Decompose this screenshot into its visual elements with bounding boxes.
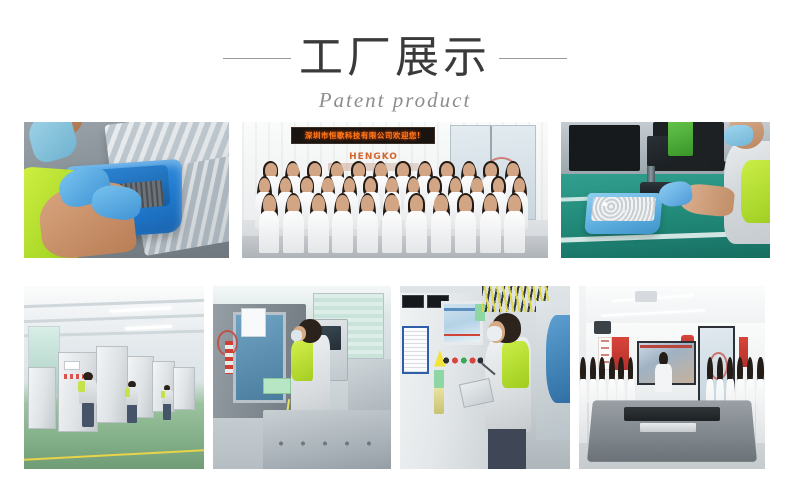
group-member [478,195,502,252]
photo-cnc-machine[interactable] [213,286,391,469]
section-header: 工厂展示 Patent product [0,0,790,122]
machine-document [241,308,266,337]
equipment-status-label [434,370,444,388]
page-subtitle: Patent product [0,88,790,113]
line-operator [161,385,174,420]
group-member [257,195,281,252]
face-mask-icon [291,330,302,341]
projector-icon [635,291,657,302]
group-member [503,195,527,252]
presenter [655,352,672,392]
safety-label [263,378,291,394]
inspector-sleeve [741,160,770,223]
group-member [380,195,404,252]
monitor-icon [569,125,640,171]
title-rule-right [499,58,567,59]
photo-inspection-bench[interactable] [561,122,770,258]
group-row-front [257,195,526,252]
face-mask-icon [724,125,753,147]
photo-company-group[interactable]: 深圳市恒歌科技有限公司欢迎您! HENGKO [242,122,548,258]
group-member [306,195,330,252]
gallery-row-top: 深圳市恒歌科技有限公司欢迎您! HENGKO [0,122,790,258]
technician-sleeve [502,341,529,389]
workpiece-holes [270,425,380,462]
photo-packing-station[interactable] [24,122,229,258]
table-center-console [624,407,721,422]
attendee [579,352,587,444]
page-title: 工厂展示 [293,30,497,86]
factory-gallery: 深圳市恒歌科技有限公司欢迎您! HENGKO [0,122,790,469]
group-member [454,195,478,252]
hmi-screen-line [444,334,480,336]
group-member [405,195,429,252]
title-rule-left [223,58,291,59]
machine-label-panel [64,361,80,370]
photo-process-recording[interactable] [400,286,570,469]
group-member [282,195,306,252]
indicator-lamps-icon [443,356,484,365]
technician-legs [488,429,525,469]
blue-machine-part [546,315,570,403]
presentation-title-bar [640,345,692,348]
line-operator [78,372,98,427]
keyboard-icon [640,423,696,432]
title-row: 工厂展示 [0,30,790,86]
digital-meter-icon [402,295,424,308]
machine-unit [173,367,195,411]
vision-camera-icon [668,122,693,156]
wall-logo: HENGKO [340,151,407,163]
group-member [356,195,380,252]
cnc-operator-sleeve [291,341,312,381]
machine-buttons-icon [225,341,232,374]
face-mask-icon [487,326,502,341]
white-parts-in-tray [591,197,656,221]
machine-unit [96,346,128,423]
emergency-stop-icon [434,388,444,414]
gallery-row-bottom [0,286,790,469]
machine-unit [28,367,57,429]
attendee [756,352,765,444]
line-operator [125,381,139,423]
group-member [429,195,453,252]
posted-procedure-sheet [402,326,429,374]
led-banner-text: 深圳市恒歌科技有限公司欢迎您! [305,130,421,141]
wall-speaker-icon [594,321,611,334]
group-member [331,195,355,252]
photo-meeting-room[interactable] [579,286,765,469]
photo-production-line[interactable] [24,286,204,469]
led-welcome-banner: 深圳市恒歌科技有限公司欢迎您! [291,127,435,143]
